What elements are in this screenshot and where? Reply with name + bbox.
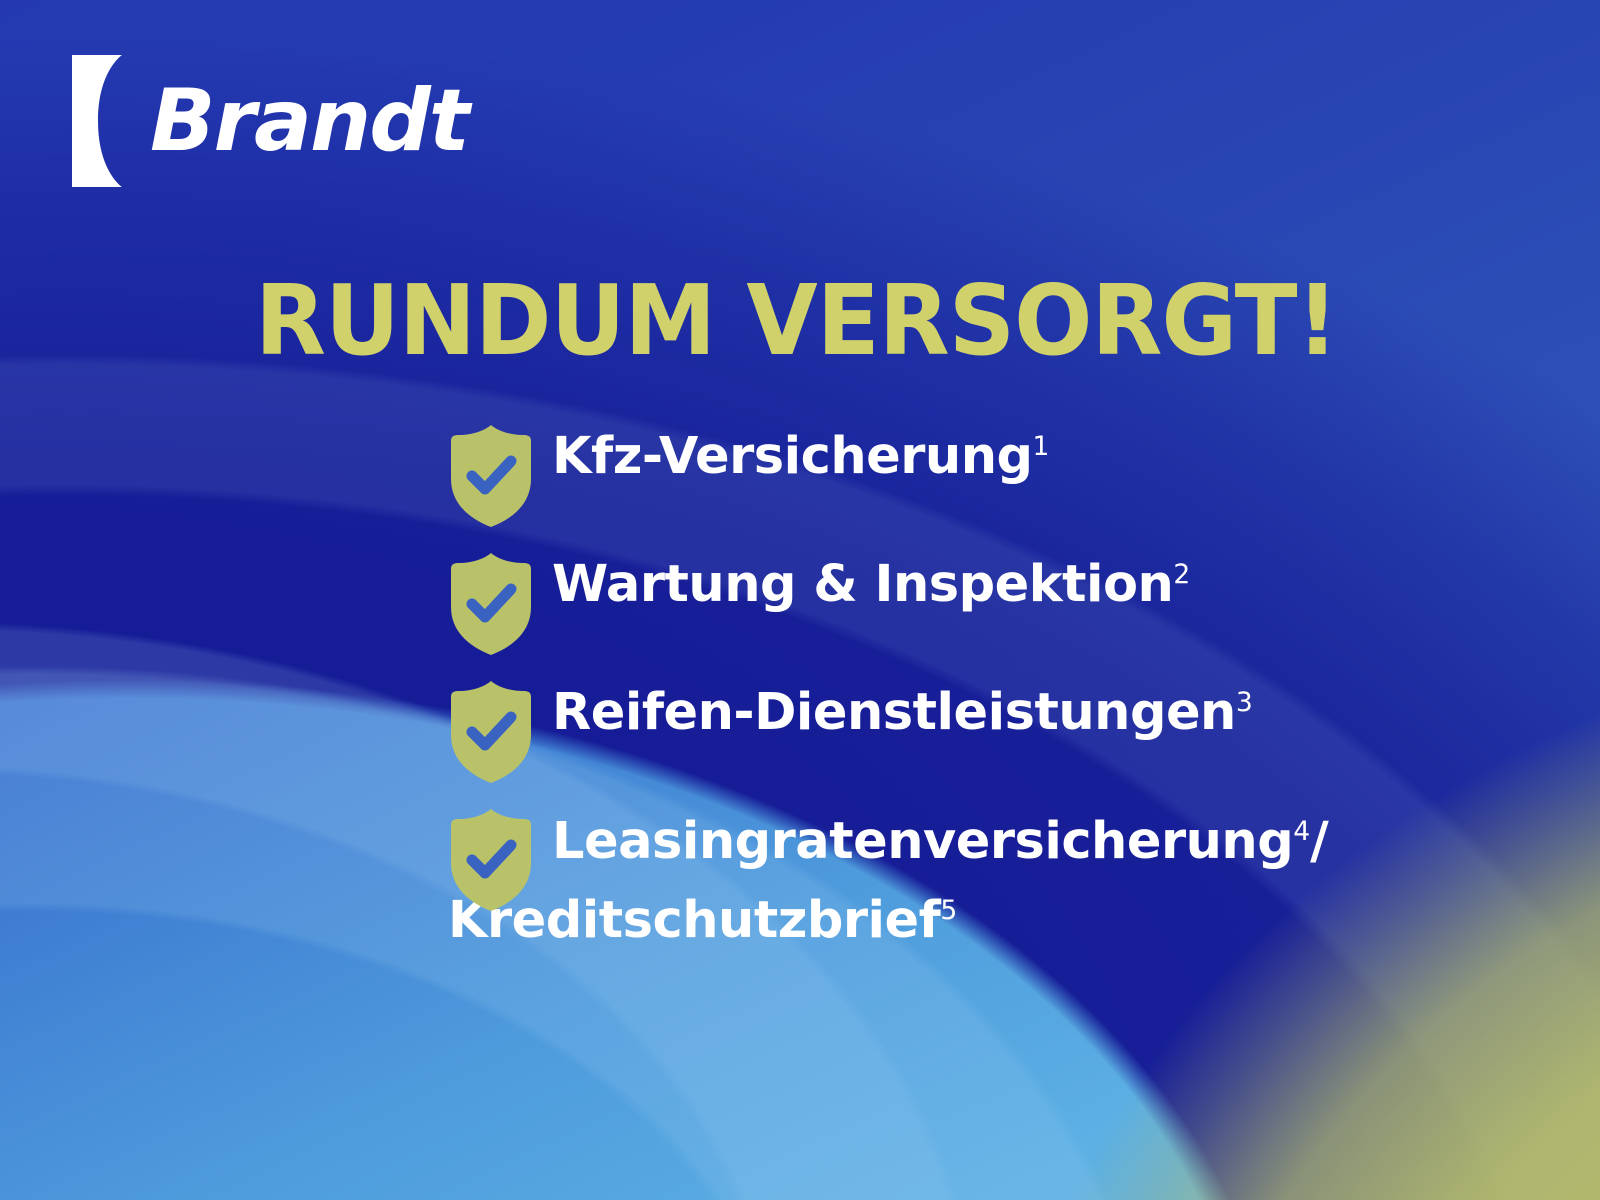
page-title: RUNDUM VERSORGT! bbox=[255, 269, 1338, 374]
shield-check-icon bbox=[448, 680, 534, 784]
list-item: Leasingratenversicherung4/Kreditschutzbr… bbox=[448, 802, 1508, 972]
brand-wordmark: Brandt bbox=[150, 78, 468, 164]
footnote-marker: 5 bbox=[940, 895, 957, 926]
benefit-label: Wartung & Inspektion2 bbox=[448, 546, 1508, 624]
footnote-marker: 4 bbox=[1293, 816, 1310, 847]
footnote-marker: 2 bbox=[1173, 559, 1190, 590]
shield-check-icon bbox=[448, 808, 534, 912]
benefit-label: Leasingratenversicherung4/Kreditschutzbr… bbox=[448, 802, 1508, 960]
list-item: Reifen-Dienstleistungen3 bbox=[448, 674, 1508, 802]
footnote-marker: 3 bbox=[1236, 687, 1253, 718]
footnote-marker: 1 bbox=[1033, 431, 1050, 462]
promo-poster: Brandt RUNDUM VERSORGT! Kfz-Versicherung… bbox=[0, 0, 1600, 1200]
benefit-label: Kfz-Versicherung1 bbox=[448, 418, 1508, 496]
shield-check-icon bbox=[448, 424, 534, 528]
shield-check-icon bbox=[448, 552, 534, 656]
benefit-label: Reifen-Dienstleistungen3 bbox=[448, 674, 1508, 752]
poster-content: Brandt RUNDUM VERSORGT! Kfz-Versicherung… bbox=[0, 0, 1600, 1200]
brandt-bracket-mark bbox=[72, 55, 144, 187]
benefit-list: Kfz-Versicherung1 Wartung & Inspektion2 … bbox=[448, 418, 1508, 972]
benefit-separator: / bbox=[1310, 812, 1328, 871]
list-item: Wartung & Inspektion2 bbox=[448, 546, 1508, 674]
list-item: Kfz-Versicherung1 bbox=[448, 418, 1508, 546]
brand-logo: Brandt bbox=[72, 55, 468, 187]
